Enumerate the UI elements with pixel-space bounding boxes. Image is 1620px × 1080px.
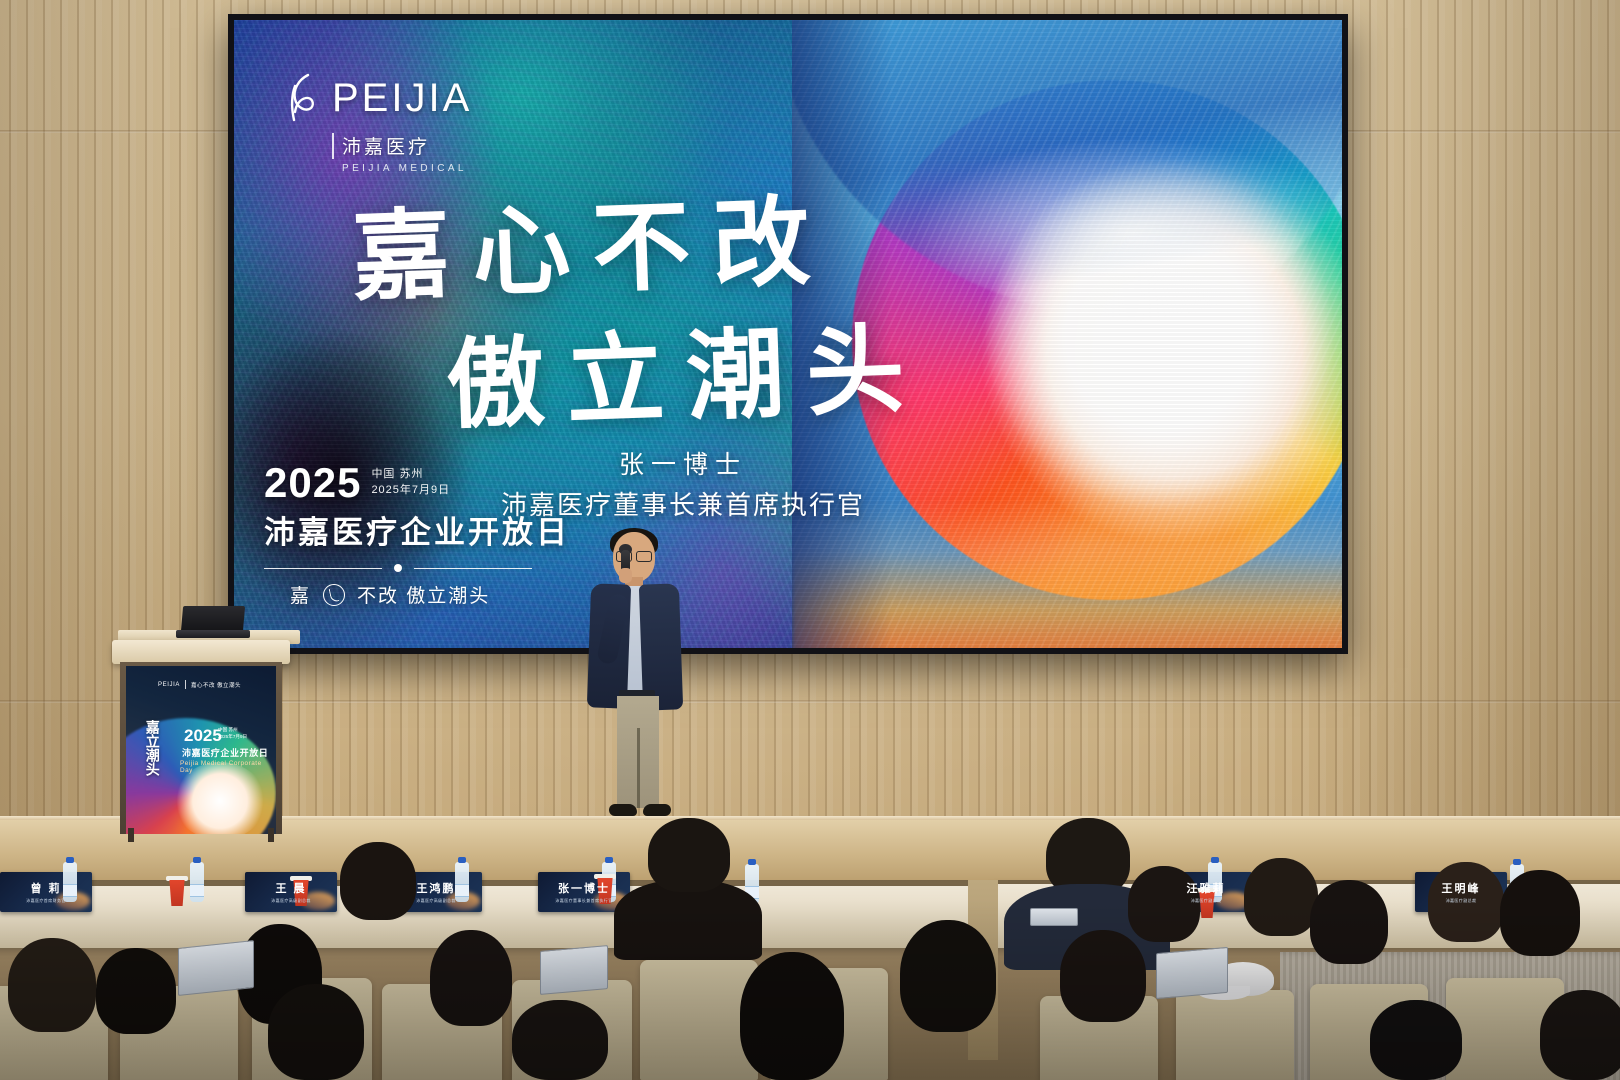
name-placard: 曾 莉沛嘉医疗首席财务官 [0, 872, 92, 912]
tagline-logo-icon [323, 584, 345, 606]
placard-subtitle: 沛嘉医疗高级副总裁 [416, 898, 456, 904]
placard-name: 王明峰 [1442, 880, 1481, 896]
attendee-head [1370, 1000, 1462, 1080]
attendee-head [1500, 870, 1580, 956]
placard-subtitle: 沛嘉医疗副总裁 [1191, 898, 1222, 904]
podium-tagline: 嘉心不改 傲立潮头 [191, 681, 241, 689]
slide-event-date: 2025年7月9日 [371, 483, 450, 499]
slide-speaker-name-text: 张一博士 [619, 451, 747, 479]
divider-dot [394, 564, 402, 572]
presenter-laptop [176, 606, 248, 640]
slide-headline-line2: 傲立潮头 [444, 290, 929, 449]
slide-tagline-right: 不改 傲立潮头 [357, 581, 490, 608]
attendee-silhouette [614, 880, 762, 960]
attendee-head [512, 1000, 608, 1080]
podium-date: 2025年7月9日 [218, 734, 247, 741]
podium-location: 中国 苏州 [218, 727, 247, 734]
attendee-head [8, 938, 96, 1032]
seat [1176, 990, 1294, 1080]
placard-subtitle: 沛嘉医疗董事长兼首席执行官 [555, 898, 612, 904]
podium-title: 沛嘉医疗企业开放日 [182, 746, 268, 759]
peijia-logo-mark [282, 72, 322, 124]
water-bottle [63, 862, 77, 902]
podium-english-title: Peijia Medical Corporate Day [180, 760, 276, 774]
slide-event-title: 沛嘉医疗企业开放日 [264, 507, 570, 552]
presenter [575, 532, 695, 822]
attendee-laptop [178, 940, 254, 996]
podium-year: 2025 [184, 726, 222, 746]
presenter-shoe-left [609, 804, 637, 816]
slide-logo-english: PEIJIA MEDICAL [342, 163, 472, 174]
attendee-head [430, 930, 512, 1026]
podium-top [112, 640, 290, 664]
attendee-head [1310, 880, 1388, 964]
podium-calligraphy: 嘉立潮头 [144, 720, 159, 776]
podium-leg-right [268, 828, 274, 842]
water-bottle [455, 862, 469, 902]
placard-subtitle: 沛嘉医疗副总裁 [1446, 898, 1477, 904]
attendee-laptop [540, 945, 608, 995]
presenter-hand [619, 568, 632, 583]
attendee-head [1540, 990, 1620, 1080]
podium-logo-divider [185, 680, 186, 689]
placard-subtitle: 沛嘉医疗首席财务官 [26, 898, 66, 904]
slide-tagline: 嘉 不改 傲立潮头 [290, 581, 570, 608]
slide-event-location: 中国 苏州 [371, 467, 450, 483]
attendee-head [1244, 858, 1318, 936]
placard-name: 曾 莉 [30, 880, 61, 896]
slide-event-lockup: 2025 中国 苏州 2025年7月9日 沛嘉医疗企业开放日 嘉 不改 傲立潮头 [264, 463, 570, 608]
placard-name: 王鸿鹏 [417, 880, 456, 896]
attendee-head [740, 952, 844, 1080]
led-screen-content: PEIJIA 沛嘉医疗 PEIJIA MEDICAL 嘉心不改 傲立潮头 张一博… [234, 20, 1342, 648]
attendee-head [1128, 866, 1200, 942]
podium-logo-wordmark: PEIJIA [158, 682, 180, 688]
slide-tagline-left: 嘉 [290, 581, 311, 608]
podium-leg-left [128, 828, 134, 842]
attendee-laptop [1156, 947, 1228, 999]
logo-divider [332, 133, 334, 159]
attendee-head [340, 842, 416, 920]
slide-logo-chinese: 沛嘉医疗 [342, 132, 430, 159]
placard-name: 张一博士 [558, 880, 610, 896]
placard-name: 王 晨 [275, 880, 306, 896]
podium-meta: 中国 苏州 2025年7月9日 [218, 727, 247, 741]
led-screen: PEIJIA 沛嘉医疗 PEIJIA MEDICAL 嘉心不改 傲立潮头 张一博… [228, 14, 1348, 654]
presentation-hall-photo: PEIJIA 沛嘉医疗 PEIJIA MEDICAL 嘉心不改 傲立潮头 张一博… [0, 0, 1620, 1080]
placard-subtitle: 沛嘉医疗高级副总裁 [271, 898, 311, 904]
attendee-head [648, 818, 730, 892]
slide-logo-wordmark: PEIJIA [332, 78, 472, 118]
slide-event-year: 2025 [264, 463, 361, 503]
presenter-shoe-right [643, 804, 671, 816]
presenter-leg-gap [637, 728, 640, 808]
attendee-head [1060, 930, 1146, 1022]
podium-logo: PEIJIA 嘉心不改 傲立潮头 [158, 680, 241, 689]
podium: PEIJIA 嘉心不改 傲立潮头 嘉立潮头 2025 中国 苏州 2025年7月… [112, 640, 290, 840]
slide-divider-rule [264, 563, 532, 573]
podium-graphic-panel: PEIJIA 嘉心不改 傲立潮头 嘉立潮头 2025 中国 苏州 2025年7月… [126, 666, 276, 834]
laptop-base [176, 630, 250, 638]
laptop-lid [181, 606, 245, 632]
slide-logo: PEIJIA 沛嘉医疗 PEIJIA MEDICAL [282, 72, 472, 174]
attendee-tablet [1030, 908, 1078, 926]
attendee-head [900, 920, 996, 1032]
placard-name: 汪雅莉 [1187, 880, 1226, 896]
attendee-head [268, 984, 364, 1080]
attendee-head [96, 948, 176, 1034]
water-bottle [190, 862, 204, 902]
